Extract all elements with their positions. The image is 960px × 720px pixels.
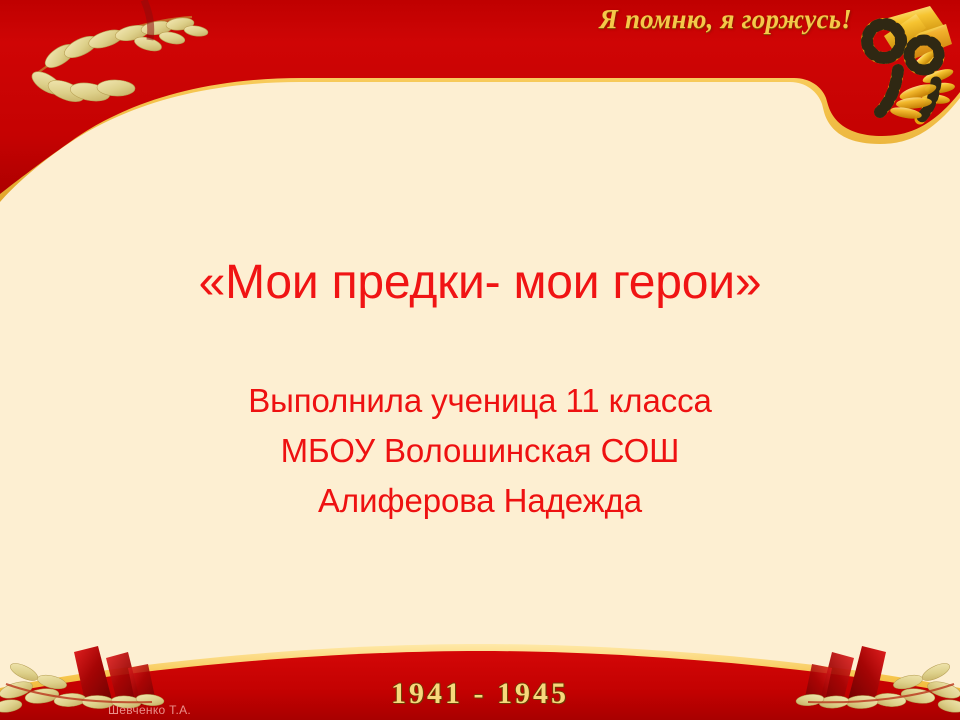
- subtitle-line: Выполнила ученица 11 класса: [0, 376, 960, 426]
- presentation-slide: Я помню, я горжусь! «Мои предки- мои гер…: [0, 0, 960, 720]
- header-motto: Я помню, я горжусь!: [599, 6, 852, 33]
- page-title: «Мои предки- мои герои»: [0, 255, 960, 312]
- laurel-branch-icon: [28, 0, 208, 106]
- gold-nine-ribbon-icon: [867, 6, 955, 121]
- subtitle-line: МБОУ Волошинская СОШ: [0, 426, 960, 476]
- slide-content: «Мои предки- мои герои» Выполнила учениц…: [0, 255, 960, 526]
- subtitle-block: Выполнила ученица 11 класса МБОУ Волошин…: [0, 376, 960, 526]
- watermark: Шевченко Т.А.: [108, 704, 191, 716]
- subtitle-line: Алиферова Надежда: [0, 476, 960, 526]
